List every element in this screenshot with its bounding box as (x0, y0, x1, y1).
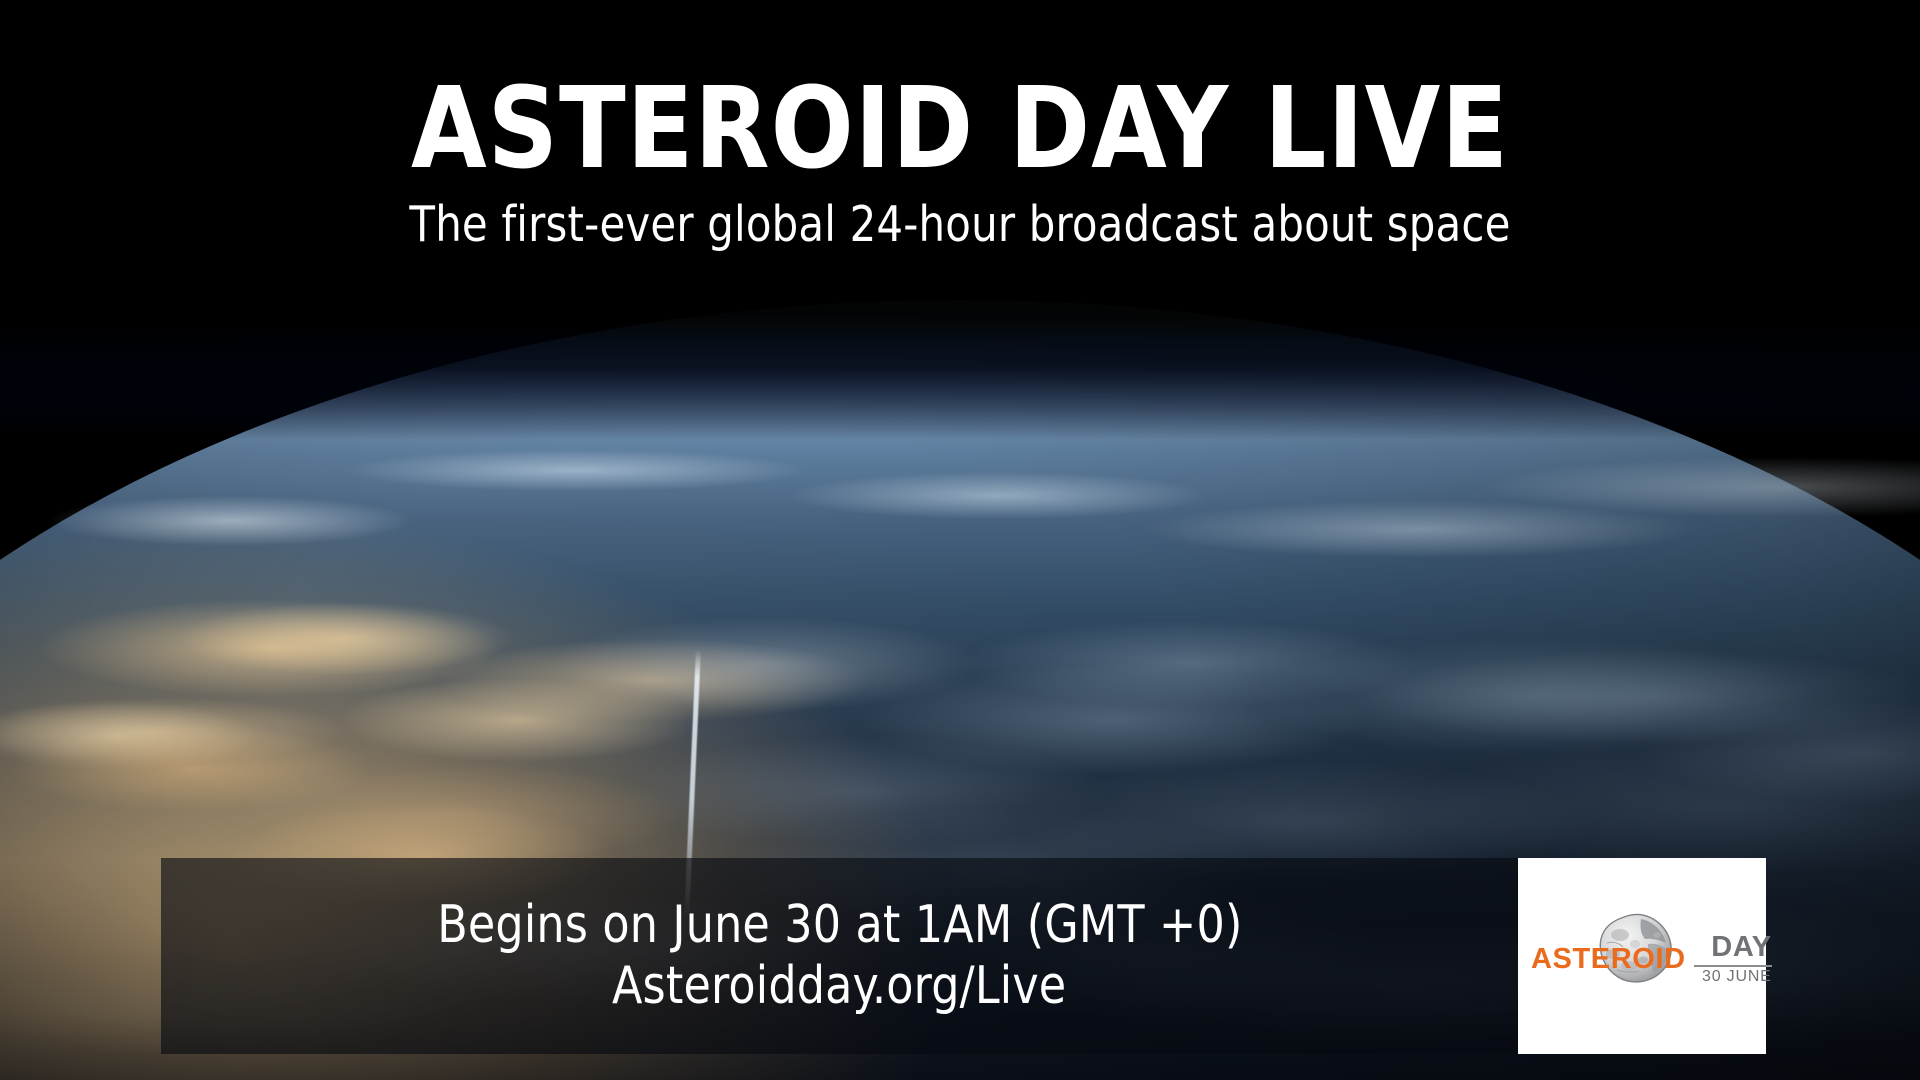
logo-tagline-date: 30 JUNE (1702, 969, 1772, 985)
logo-word-day: DAY (1711, 933, 1771, 962)
poster-canvas: ASTEROID DAY LIVE The first-ever global … (0, 0, 1920, 1080)
logo-word-asteroid: ASTEROID (1531, 945, 1686, 974)
asteroid-day-logo[interactable]: ASTEROID (1518, 858, 1766, 1054)
logo-lockup: ASTEROID (1531, 919, 1753, 993)
logo-right-stack: DAY 30 JUNE (1694, 933, 1772, 985)
logo-divider-rule (1694, 965, 1772, 967)
info-bar-backdrop (161, 858, 1518, 1054)
